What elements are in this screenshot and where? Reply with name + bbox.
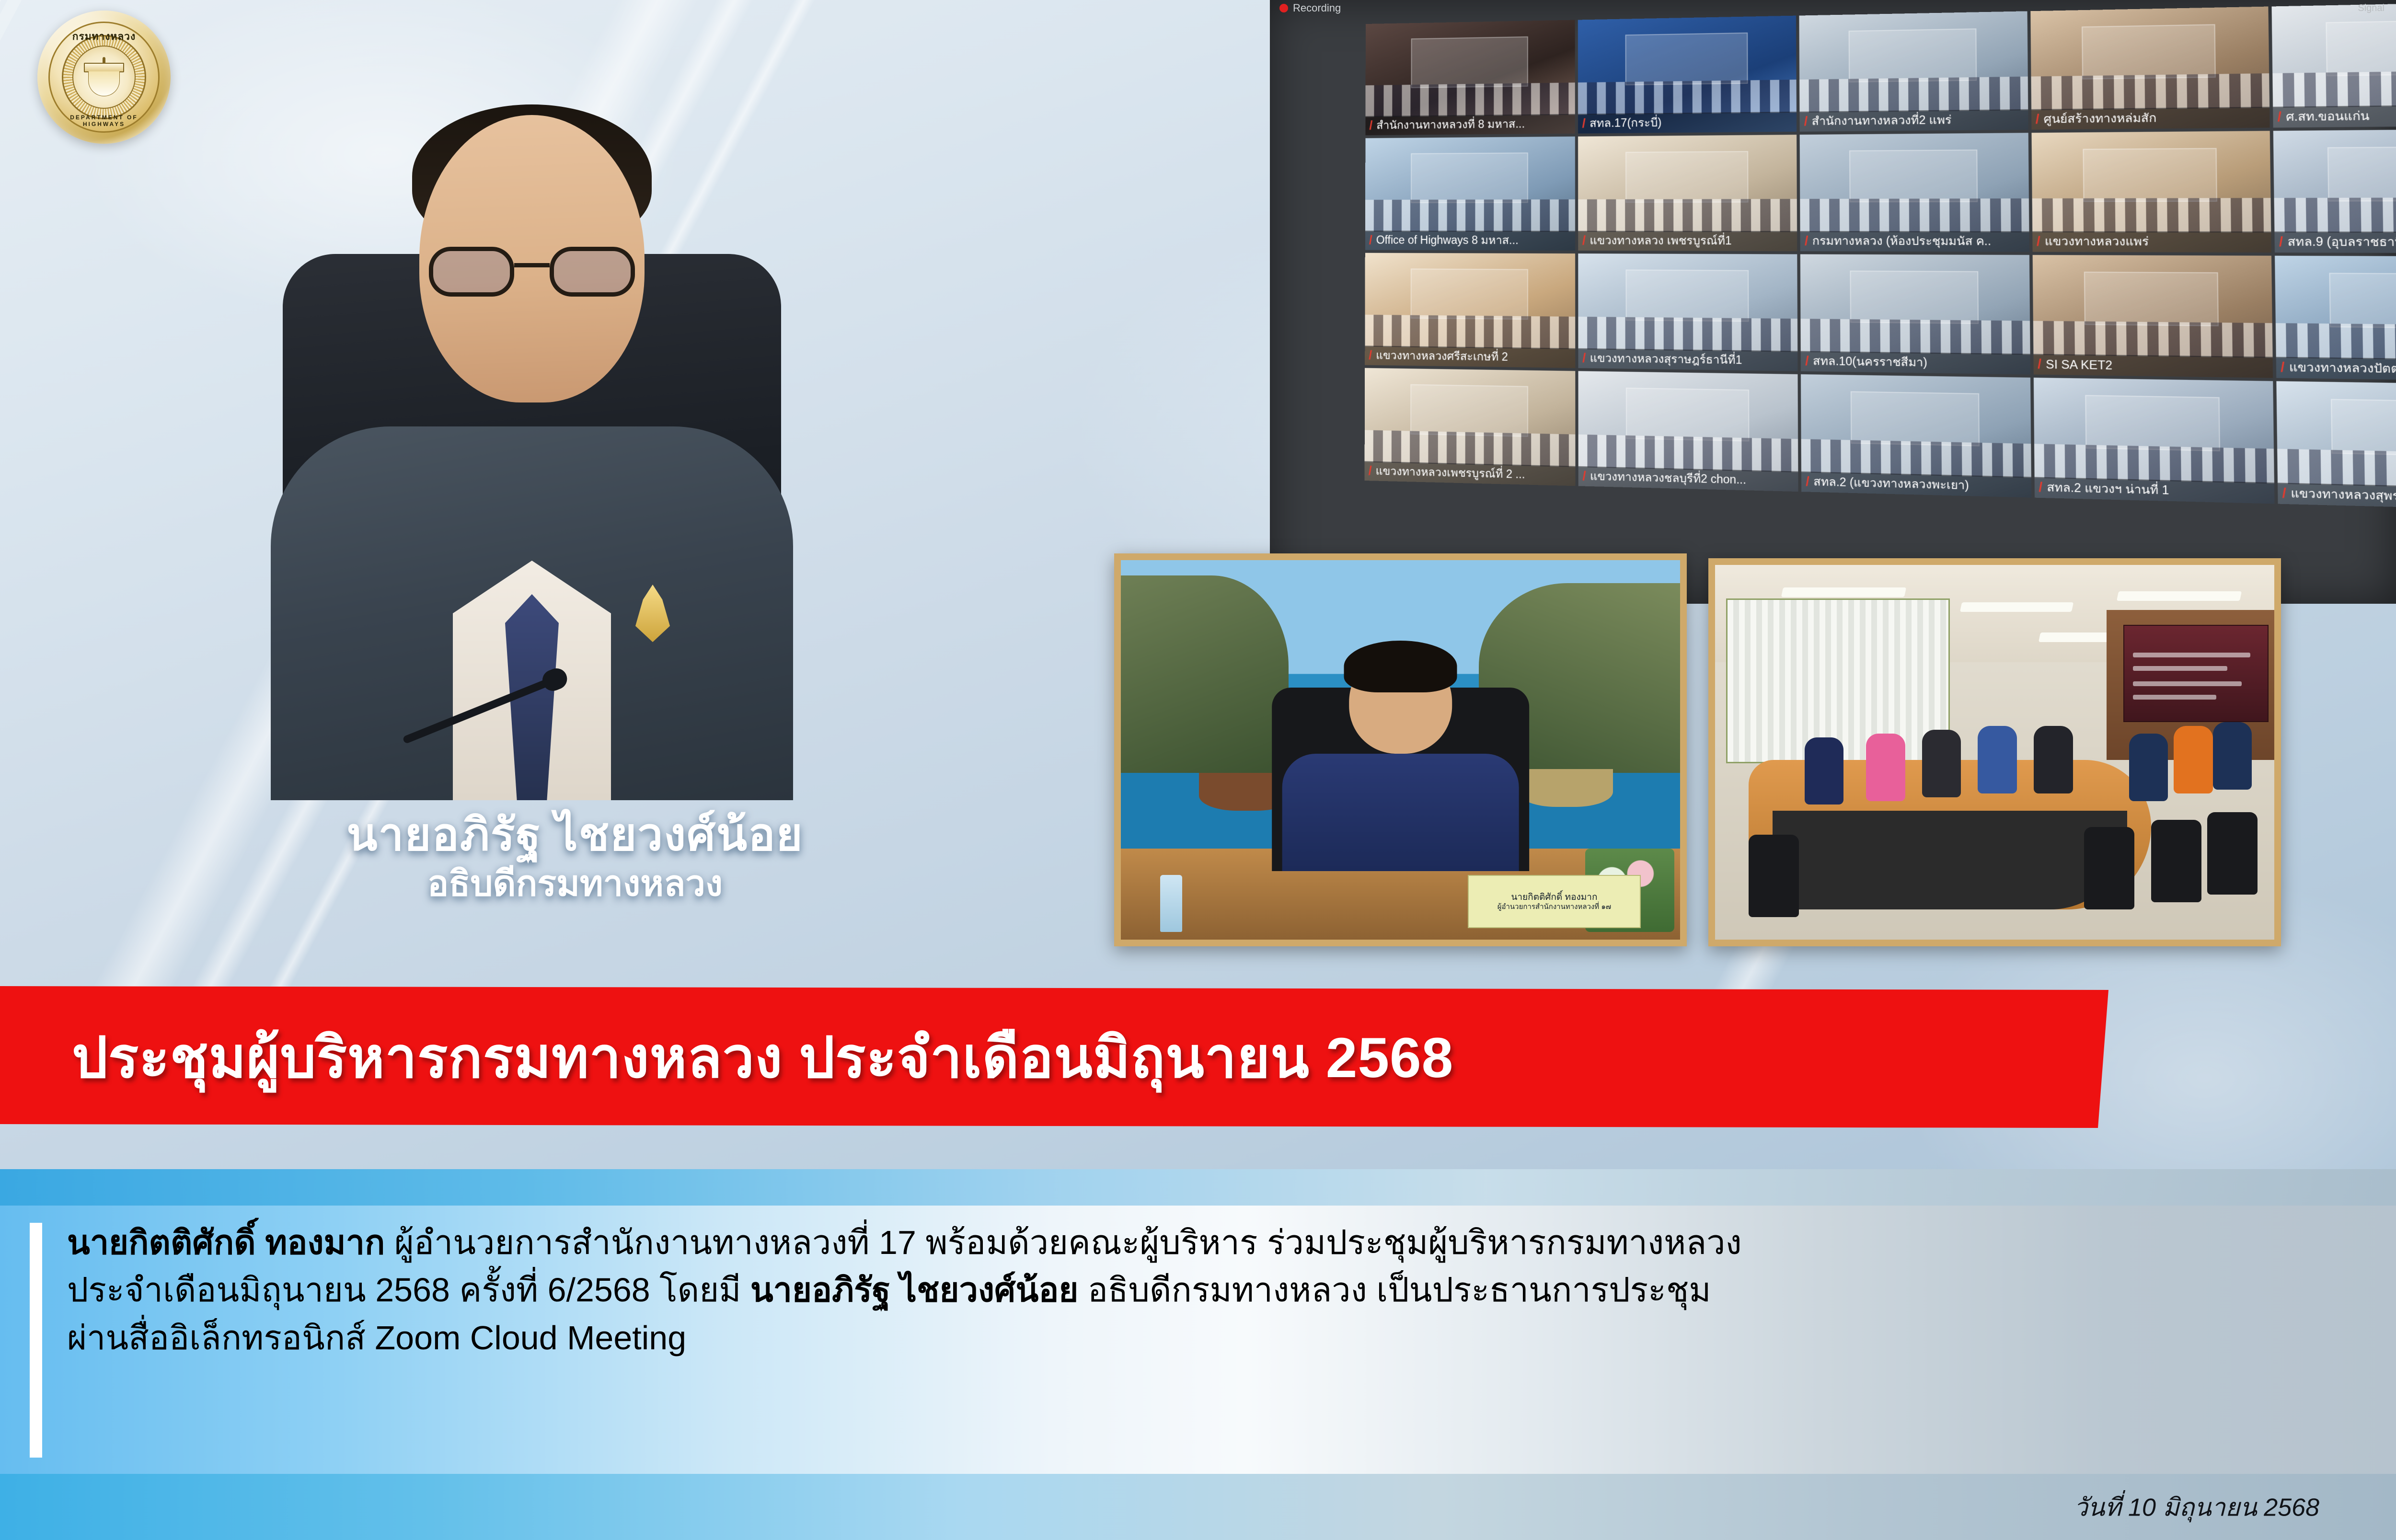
tile-screen-shape (1411, 153, 1528, 203)
tile-caption: /SI SA KET2 (2033, 354, 2273, 378)
tile-people-shape (2032, 198, 2271, 232)
tile-people-shape (1365, 199, 1575, 232)
inset-photo-meeting-room (1708, 558, 2281, 946)
footer-bar: วันที่ 10 มิถุนายน 2568 (0, 1474, 2396, 1540)
tile-caption: /สทล.17(กระบี่) (1578, 112, 1797, 134)
microphone-muted-icon: / (1369, 464, 1372, 478)
logo-outer-ring: กรมทางหลวง DEPARTMENT OF HIGHWAYS (48, 22, 160, 133)
zoom-tile[interactable]: /สทล.10(นครราชสีมา) (1800, 254, 2030, 375)
zoom-tile[interactable]: /แขวงทางหลวงชลบุรีที่2 chon... (1578, 371, 1798, 492)
tile-label: แขวงทางหลวงสุพรรณบุรีที่ 2 .. (2291, 484, 2396, 507)
tile-people-shape (1365, 315, 1575, 349)
tile-screen-shape (1410, 384, 1528, 437)
zoom-tile[interactable]: /สำนักงานทางหลวงที่2 แพร่ (1799, 11, 2028, 131)
caption-part-2a: ประจำเดือนมิถุนายน 2568 ครั้งที่ 6/2568 … (67, 1271, 750, 1309)
tile-label: สำนักงานทางหลวงที่2 แพร่ (1812, 111, 1952, 131)
microphone-muted-icon: / (2282, 486, 2286, 501)
tile-people-shape (1578, 199, 1797, 232)
tile-label: แขวงทางหลวงปัตตานี สทล.18 (2289, 358, 2396, 379)
zoom-tile[interactable]: /สทล.2 แขวงฯ น่านที่ 1 (2033, 378, 2274, 504)
tile-label: แขวงทางหลวงสุราษฎร์ธานีที่1 (1590, 349, 1742, 369)
caption-line-3: ผ่านสื่ออิเล็กทรอนิกส์ Zoom Cloud Meetin… (67, 1314, 2367, 1362)
zoom-tile[interactable]: /แขวงทางหลวง เพชรบูรณ์ที่1 (1578, 135, 1797, 251)
attendee-figure (2174, 726, 2213, 793)
projector-screen (2123, 625, 2269, 722)
zoom-tile[interactable]: /สทล.17(กระบี่) (1578, 16, 1797, 134)
microphone-muted-icon: / (1806, 474, 1809, 489)
tile-caption: /แขวงทางหลวงสุพรรณบุรีที่ 2 .. (2278, 483, 2396, 510)
tile-screen-shape (1849, 29, 1977, 82)
inset-photo-director-seated: นายกิตติศักดิ์ ทองมาก ผู้อำนวยการสำนักงา… (1114, 553, 1687, 946)
portrait-director-general (249, 53, 815, 800)
caption-panel: นายกิตติศักดิ์ ทองมาก ผู้อำนวยการสำนักงา… (0, 1206, 2396, 1474)
tile-label: สทล.17(กระบี่) (1590, 114, 1661, 132)
tile-caption: /แขวงทางหลวงแพร่ (2032, 231, 2271, 253)
tile-label: แขวงทางหลวงแพร่ (2045, 232, 2149, 251)
tile-label: แขวงทางหลวงเพชรบูรณ์ที่ 2 ... (1376, 462, 1525, 483)
shirt-batik-shape (1282, 754, 1519, 872)
tile-label: สทล.10(นครราชสีมา) (1813, 352, 1927, 372)
tile-people-shape (2276, 323, 2396, 361)
zoom-tile[interactable]: /แขวงทางหลวงสุราษฎร์ธานีที่1 (1578, 253, 1797, 371)
tile-caption: /แขวงทางหลวง เพชรบูรณ์ที่1 (1578, 231, 1797, 251)
microphone-muted-icon: / (2279, 234, 2283, 250)
headline-title: ประชุมผู้บริหารกรมทางหลวง ประจำเดือนมิถุ… (72, 1012, 1453, 1102)
slide-line (2133, 695, 2216, 700)
caption-text: นายกิตติศักดิ์ ทองมาก ผู้อำนวยการสำนักงา… (67, 1219, 2367, 1362)
chair-shape (2151, 820, 2201, 902)
tile-screen-shape (2331, 399, 2396, 456)
zoom-tile[interactable]: /แขวงทางหลวงสุพรรณบุรีที่ 2 .. (2276, 381, 2396, 510)
hair-shape (1344, 641, 1457, 692)
microphone-muted-icon: / (1582, 233, 1586, 248)
tile-screen-shape (2082, 24, 2216, 79)
zoom-tile[interactable]: /SI SA KET2 (2032, 255, 2273, 378)
tile-label: สทล.9 (อุบลราชธานี) (2287, 232, 2396, 252)
ceiling-lamp-icon (2117, 591, 2242, 601)
chair-shape (1749, 835, 1799, 917)
signal-label: Signal (2358, 3, 2384, 14)
tile-people-shape (1578, 80, 1797, 115)
attendee-figure (2034, 726, 2073, 793)
tile-people-shape (2033, 321, 2272, 358)
zoom-tile[interactable]: /แขวงทางหลวงเพชรบูรณ์ที่ 2 ... (1365, 368, 1576, 486)
tile-caption: /ศ.สท.ขอนแก่น (2273, 104, 2396, 127)
logo-drape-icon (88, 71, 120, 96)
tile-caption: /กรมทางหลวง (ห้องประชุมมนัส ค.. (1800, 231, 2029, 252)
logo-thai-text: กรมทางหลวง (50, 29, 158, 45)
department-of-highways-logo: กรมทางหลวง DEPARTMENT OF HIGHWAYS (37, 11, 171, 144)
nameplate: นายกิตติศักดิ์ ทองมาก ผู้อำนวยการสำนักงา… (1468, 875, 1641, 928)
slide-line (2133, 666, 2228, 671)
caption-line-2: ประจำเดือนมิถุนายน 2568 ครั้งที่ 6/2568 … (67, 1266, 2367, 1314)
tile-label: ศูนย์สร้างทางหล่มสัก (2044, 109, 2157, 128)
tile-caption: /สำนักงานทางหลวงที่2 แพร่ (1800, 109, 2028, 132)
cliff-left-shape (1121, 575, 1289, 773)
tile-screen-shape (1625, 151, 1748, 203)
microphone-muted-icon: / (1582, 469, 1586, 483)
zoom-participant-grid: /สำนักงานทางหลวงที่ 8 มหาส.../สทล.17(กระ… (1364, 1, 2396, 604)
tile-label: แขวงทางหลวง เพชรบูรณ์ที่1 (1590, 232, 1732, 250)
tile-people-shape (1578, 317, 1798, 352)
tile-screen-shape (1410, 269, 1528, 320)
slide-line (2133, 653, 2251, 657)
logo-ray-ring (62, 35, 146, 119)
microphone-muted-icon: / (2039, 480, 2042, 495)
tile-people-shape (1801, 319, 2030, 355)
tile-caption: /สำนักงานทางหลวงที่ 8 มหาส... (1365, 114, 1575, 136)
boat-right-shape (1518, 769, 1613, 807)
glasses-bridge (514, 263, 550, 267)
tile-label: สำนักงานทางหลวงที่ 8 มหาส... (1376, 115, 1525, 134)
microphone-muted-icon: / (1805, 354, 1809, 369)
tile-people-shape (1366, 82, 1575, 117)
chair-shape (2207, 812, 2258, 895)
zoom-tile[interactable]: /แขวงทางหลวงปัตตานี สทล.18 (2275, 256, 2396, 382)
ceiling-lamp-icon (1960, 602, 2074, 612)
caption-part-2b: อธิบดีกรมทางหลวง เป็นประธานการประชุม (1078, 1271, 1711, 1309)
recording-dot-icon (1279, 4, 1288, 12)
accent-bar (30, 1223, 42, 1458)
tile-screen-shape (1411, 36, 1528, 88)
recording-indicator: Recording (1279, 2, 1341, 14)
tile-screen-shape (1625, 33, 1748, 85)
seated-official-figure (1272, 636, 1529, 871)
caption-name-2: นายอภิรัฐ ไชยวงศ์น้อย (750, 1271, 1079, 1309)
zoom-meeting-screen: Recording Signal /สำนักงานทางหลวงที่ 8 ม… (1270, 0, 2396, 604)
tile-caption: /ศูนย์สร้างทางหล่มสัก (2031, 107, 2270, 130)
publish-date: วันที่ 10 มิถุนายน 2568 (2074, 1487, 2319, 1527)
director-position: อธิบดีกรมทางหลวง (158, 864, 992, 903)
tile-people-shape (1800, 77, 2028, 113)
tile-screen-shape (1849, 150, 1978, 202)
tile-caption: /แขวงทางหลวงปัตตานี สทล.18 (2276, 357, 2396, 381)
microphone-muted-icon: / (1369, 119, 1372, 133)
tile-label: Office of Highways 8 มหาส... (1376, 231, 1519, 249)
tile-label: SI SA KET2 (2046, 357, 2112, 372)
microphone-muted-icon: / (2281, 360, 2285, 375)
microphone-muted-icon: / (1582, 116, 1585, 131)
microphone-muted-icon: / (2038, 357, 2041, 372)
attendee-figure (2213, 722, 2252, 790)
logo-emblem (72, 46, 136, 109)
tile-people-shape (2274, 197, 2396, 233)
ceiling-lamp-icon (1781, 587, 1906, 597)
tile-screen-shape (2083, 148, 2217, 202)
microphone-muted-icon: / (1582, 351, 1586, 366)
headline-banner: ประชุมผู้บริหารกรมทางหลวง ประจำเดือนมิถุ… (0, 986, 2108, 1128)
microphone-muted-icon: / (1805, 234, 1809, 248)
zoom-tile[interactable]: /ศูนย์สร้างทางหล่มสัก (2030, 7, 2270, 130)
tile-caption: /แขวงทางหลวงสุราษฎร์ธานีที่1 (1578, 348, 1798, 371)
caption-line-1: นายกิตติศักดิ์ ทองมาก ผู้อำนวยการสำนักงา… (67, 1219, 2367, 1266)
microphone-muted-icon: / (2036, 112, 2039, 127)
tile-screen-shape (2326, 20, 2396, 76)
microphone-muted-icon: / (1804, 115, 1808, 129)
caption-rest-1: ผู้อำนวยการสำนักงานทางหลวงที่ 17 พร้อมด้… (385, 1224, 1741, 1261)
microphone-muted-icon: / (1369, 233, 1372, 247)
director-name: นายอภิรัฐ ไชยวงศ์น้อย (158, 810, 992, 859)
tile-screen-shape (2327, 147, 2396, 201)
tile-screen-shape (1625, 270, 1749, 322)
tile-screen-shape (1850, 271, 1979, 323)
zoom-tile[interactable]: /สำนักงานทางหลวงที่ 8 มหาส... (1365, 20, 1575, 136)
tile-label: แขวงทางหลวงศรีสะเกษที่ 2 (1376, 347, 1508, 366)
zoom-tile[interactable]: /แขวงทางหลวงแพร่ (2031, 131, 2271, 253)
tile-screen-shape (2085, 395, 2220, 451)
tile-label: กรมทางหลวง (ห้องประชุมมนัส ค.. (1812, 232, 1991, 251)
tile-caption: /สทล.9 (อุบลราชธานี) (2274, 231, 2396, 253)
portrait-name-overlay: นายอภิรัฐ ไชยวงศ์น้อย อธิบดีกรมทางหลวง (158, 810, 992, 903)
glasses-right-lens (550, 247, 635, 297)
attendee-figure (1866, 734, 1905, 801)
slide-line (2133, 681, 2242, 686)
attendee-figure (1805, 737, 1844, 805)
zoom-tile[interactable]: /สทล.2 (แขวงทางหลวงพะเยา) (1801, 374, 2031, 497)
glasses-icon (429, 247, 635, 299)
tile-caption: /สทล.10(นครราชสีมา) (1801, 351, 2030, 375)
tile-label: แขวงทางหลวงชลบุรีที่2 chon... (1590, 468, 1746, 490)
zoom-tile[interactable]: /สทล.9 (อุบลราชธานี) (2273, 129, 2396, 253)
tile-caption: /Office of Highways 8 มหาส... (1365, 230, 1575, 251)
attendee-figure (2129, 734, 2168, 801)
zoom-tile[interactable]: /ศ.สท.ขอนแก่น (2271, 1, 2396, 127)
tile-screen-shape (1851, 391, 1980, 446)
microphone-muted-icon: / (1369, 348, 1372, 362)
microphone-muted-icon: / (2277, 110, 2281, 125)
tile-caption: /แขวงทางหลวงศรีสะเกษที่ 2 (1365, 345, 1575, 368)
logo-english-text: DEPARTMENT OF HIGHWAYS (50, 114, 158, 127)
panel-top-strip (0, 1169, 2396, 1209)
caption-name-1: นายกิตติศักดิ์ ทองมาก (67, 1224, 385, 1261)
zoom-tile[interactable]: /กรมทางหลวง (ห้องประชุมมนัส ค.. (1800, 133, 2029, 252)
zoom-tile[interactable]: /Office of Highways 8 มหาส... (1365, 137, 1575, 251)
water-bottle-icon (1160, 875, 1183, 932)
tile-screen-shape (2329, 273, 2396, 329)
attendee-figure (1922, 730, 1961, 797)
nameplate-line-2: ผู้อำนวยการสำนักงานทางหลวงที่ ๑๗ (1497, 903, 1611, 912)
recording-label: Recording (1293, 2, 1341, 14)
window-blinds-shape (1726, 598, 1950, 763)
tile-people-shape (2272, 70, 2396, 108)
logo-pavilion-icon (84, 63, 124, 72)
tile-label: สทล.2 แขวงฯ น่านที่ 1 (2047, 478, 2169, 500)
tile-screen-shape (2084, 272, 2219, 326)
glasses-left-lens (429, 247, 514, 297)
tile-label: สทล.2 (แขวงทางหลวงพะเยา) (1813, 473, 1969, 495)
tile-people-shape (2031, 73, 2269, 110)
attendee-figure (1978, 726, 2017, 793)
tile-people-shape (1800, 198, 2029, 232)
tile-screen-shape (1626, 388, 1749, 441)
tile-label: ศ.สท.ขอนแก่น (2286, 107, 2370, 126)
microphone-muted-icon: / (2037, 234, 2040, 249)
chair-shape (2084, 827, 2134, 909)
zoom-tile[interactable]: /แขวงทางหลวงศรีสะเกษที่ 2 (1365, 253, 1575, 368)
nameplate-line-1: นายกิตติศักดิ์ ทองมาก (1511, 892, 1597, 903)
